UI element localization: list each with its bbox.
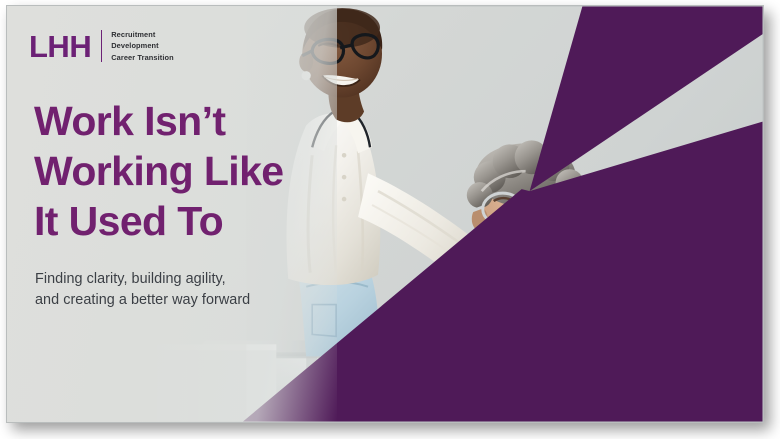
slide-card: LHH Recruitment Development Career Trans…: [6, 5, 764, 423]
hero-photo: [7, 6, 763, 422]
slide-frame: LHH Recruitment Development Career Trans…: [0, 0, 780, 439]
